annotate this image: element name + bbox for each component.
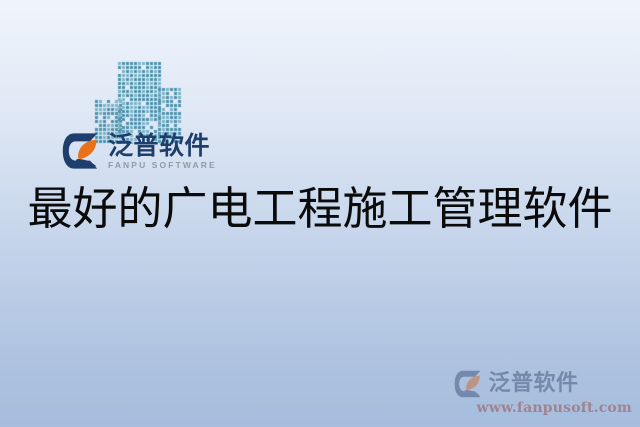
brand-wordmark: 泛普软件 FANPU SOFTWARE: [108, 133, 217, 170]
watermark-logo-row: 泛普软件: [454, 369, 578, 399]
watermark-name-cn: 泛普软件: [488, 373, 578, 395]
fanpu-watermark-mark: [454, 369, 484, 399]
watermark-url: www.fanpusoft.com: [476, 401, 632, 415]
brand-logo: 泛普软件 FANPU SOFTWARE: [62, 131, 217, 171]
brand-name-cn: 泛普软件: [108, 133, 217, 158]
page-title: 最好的广电工程施工管理软件: [0, 184, 640, 234]
promo-banner: 泛普软件 FANPU SOFTWARE 最好的广电工程施工管理软件 泛普软件 w…: [0, 0, 640, 427]
watermark: 泛普软件 www.fanpusoft.com: [454, 369, 632, 415]
fanpu-logo-mark: [62, 131, 102, 171]
brand-name-en: FANPU SOFTWARE: [108, 161, 217, 170]
